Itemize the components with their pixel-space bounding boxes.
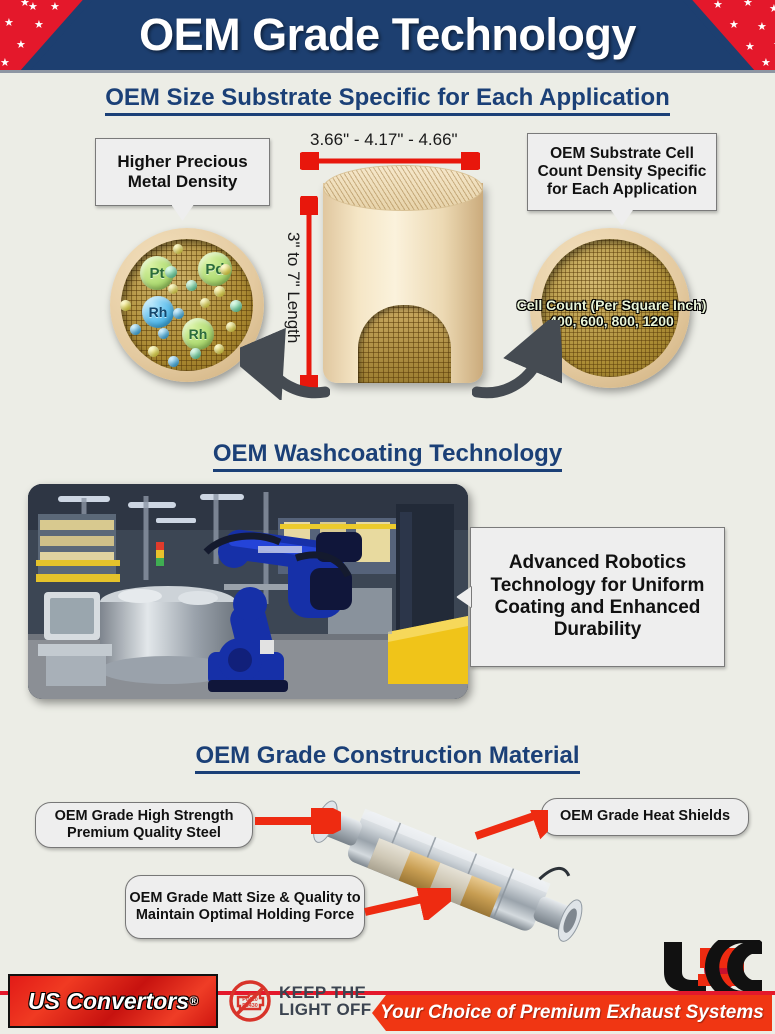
callout-matt-size-quality: OEM Grade Matt Size & Quality to Maintai… [125, 875, 365, 939]
callout-text: OEM Grade Matt Size & Quality to Maintai… [126, 890, 364, 925]
footer-tagline: Your Choice of Premium Exhaust Systems [372, 995, 772, 1031]
registered-mark: ® [189, 994, 198, 1008]
metal-symbol: Rh [189, 326, 208, 342]
arrow-to-matt-icon [363, 888, 451, 920]
metal-particle-small [230, 300, 242, 312]
keep-light-off-text: KEEP THE LIGHT OFF [279, 984, 371, 1018]
infographic-page: ★ ★ ★ ★ ★ ★ ★ ★ ★ ★ ★ ★ ★ ★ ★ ★ ★ [0, 0, 775, 1034]
section-title-construction: OEM Grade Construction Material [0, 742, 775, 770]
callout-tail-icon [172, 205, 194, 221]
metal-symbol: Rh [149, 304, 168, 320]
header-underline [0, 70, 775, 73]
callout-tail-icon [611, 210, 633, 226]
callout-heat-shields: OEM Grade Heat Shields [541, 798, 749, 836]
usc-logo [660, 940, 766, 992]
metal-particle-rh-green: Rh [182, 318, 214, 350]
keep-the-light-off-badge: P0420 P0430 KEEP THE LIGHT OFF [228, 979, 371, 1023]
metal-particle-small [186, 280, 197, 291]
cylinder-body [323, 183, 483, 383]
page-title: OEM Grade Technology [0, 0, 775, 70]
callout-text: Higher Precious Metal Density [96, 152, 269, 192]
metal-particle-small [173, 308, 184, 319]
factory-scene-illustration [28, 484, 468, 699]
callout-text: OEM Grade High Strength Premium Quality … [36, 808, 252, 843]
cylinder-cell-cutaway [358, 305, 451, 383]
section-title-washcoating-text: OEM Washcoating Technology [213, 440, 562, 472]
cell-count-label: Cell Count (Per Square Inch) [494, 297, 729, 313]
metal-particle-small [190, 348, 201, 359]
metal-particle-small [168, 284, 178, 294]
callout-cell-count-density: OEM Substrate Cell Count Density Specifi… [527, 133, 717, 211]
section-title-substrate-text: OEM Size Substrate Specific for Each App… [105, 84, 670, 116]
robot-arm-factory-photo [28, 484, 468, 699]
tagline-text: Your Choice of Premium Exhaust Systems [380, 1002, 764, 1024]
no-check-engine-light-icon: P0420 P0430 [228, 979, 272, 1023]
curved-arrow-left-icon [240, 320, 330, 400]
callout-text: OEM Substrate Cell Count Density Specifi… [528, 145, 716, 200]
width-dimension-label: 3.66" - 4.17" - 4.66" [310, 130, 458, 150]
cylinder-top-face [323, 165, 483, 211]
usc-logo-icon [660, 940, 766, 992]
us-convertors-logo: US Convertors® [8, 974, 218, 1028]
callout-higher-precious-metal-density: Higher Precious Metal Density [95, 138, 270, 206]
metal-particle-small [148, 346, 159, 357]
metal-particle-small [120, 300, 131, 311]
curved-arrow-right-icon [472, 320, 562, 400]
keep-light-line1: KEEP THE [279, 984, 371, 1001]
arrow-to-heat-shields-icon [468, 810, 548, 846]
substrate-cylinder-image [323, 165, 483, 405]
brand-name-text: US Convertors [28, 988, 189, 1015]
callout-high-strength-steel: OEM Grade High Strength Premium Quality … [35, 802, 253, 848]
metal-particle-small [214, 344, 224, 354]
callout-text: Advanced Robotics Technology for Uniform… [471, 552, 724, 642]
metal-particle-small [200, 298, 210, 308]
callout-text: OEM Grade Heat Shields [560, 808, 730, 825]
metal-particle-small [173, 244, 183, 254]
page-header: ★ ★ ★ ★ ★ ★ ★ ★ ★ ★ ★ ★ ★ ★ ★ ★ ★ [0, 0, 775, 70]
metal-particle-small [226, 322, 236, 332]
metal-symbol: Pt [150, 265, 165, 282]
metal-particle-small [158, 328, 169, 339]
callout-advanced-robotics: Advanced Robotics Technology for Uniform… [470, 527, 725, 667]
metal-particle-small [130, 324, 141, 335]
arrow-to-steel-icon [253, 808, 341, 834]
metal-particle-small [214, 286, 225, 297]
metal-particle-small [220, 264, 231, 275]
metal-particle-small [165, 266, 177, 278]
section-title-construction-text: OEM Grade Construction Material [195, 742, 579, 774]
section-title-washcoating: OEM Washcoating Technology [0, 440, 775, 468]
metal-particle-small [168, 356, 179, 367]
metal-particle-rh-blue: Rh [142, 296, 174, 328]
keep-light-line2: LIGHT OFF [279, 1001, 371, 1018]
section-title-substrate: OEM Size Substrate Specific for Each App… [0, 84, 775, 112]
